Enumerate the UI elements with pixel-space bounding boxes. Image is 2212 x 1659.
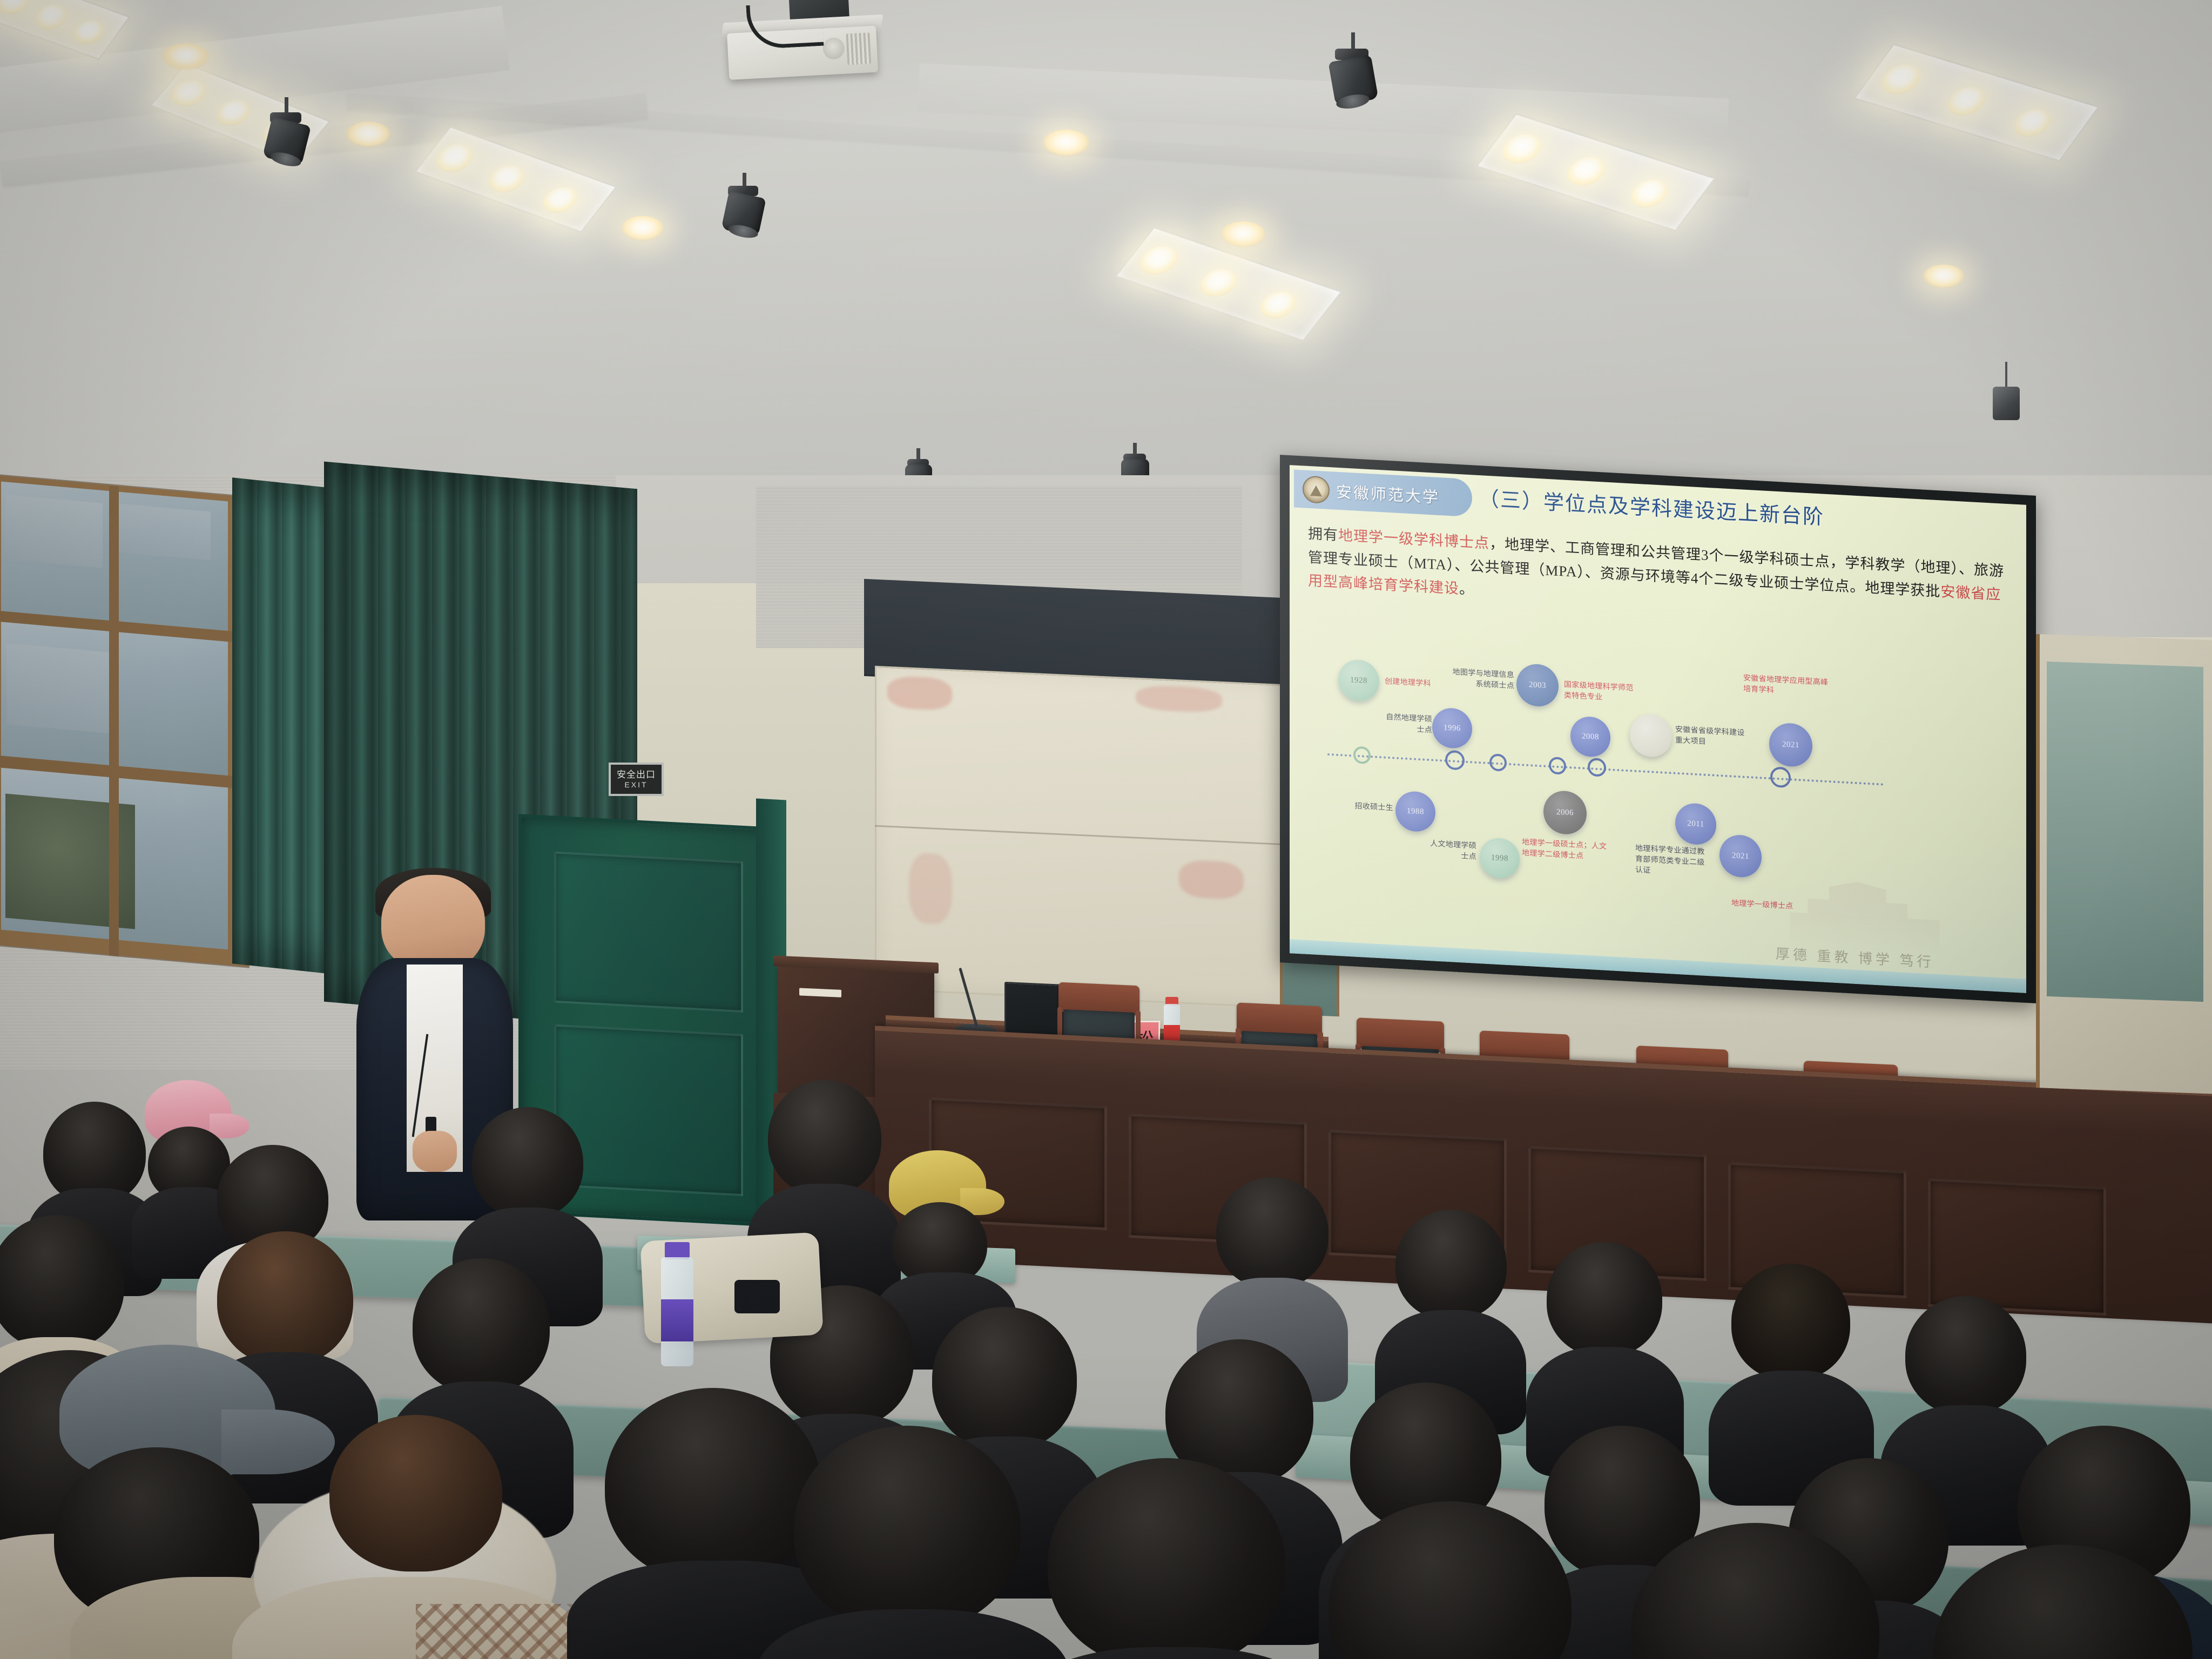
slide-logo-band: 安徽师范大学 <box>1294 469 1472 517</box>
exit-sign-cn: 安全出口 <box>617 770 656 779</box>
university-name: 安徽师范大学 <box>1336 480 1440 508</box>
downlight-3 <box>621 216 664 241</box>
stage-spotlight-1 <box>254 97 319 167</box>
projector-vent <box>846 32 871 65</box>
timeline-year-2003: 2003 <box>1529 680 1546 691</box>
timeline-node-above-5: 2021 <box>1769 722 1812 767</box>
audience-person-front-3 <box>232 1415 567 1659</box>
ceiling-projector <box>721 0 899 107</box>
audience-head <box>1933 1545 2193 1659</box>
audience-person-front-5 <box>772 1426 1042 1659</box>
timeline-label-above-4: 安徽省省级学科建设重大项目 <box>1675 725 1745 750</box>
timeline-ring-3 <box>1489 753 1507 772</box>
downlight-1 <box>162 43 210 70</box>
audience-person-front-8 <box>1609 1523 1912 1659</box>
downlight-4 <box>1042 130 1090 157</box>
timeline-ring-5 <box>1588 758 1606 777</box>
stage-spotlight-2 <box>713 173 775 241</box>
audience-head <box>1731 1264 1850 1380</box>
presenter-head <box>381 875 484 972</box>
slide-body-seg-0: 拥有 <box>1308 525 1338 543</box>
timeline-label-below-4: 地理学一级博士点 <box>1731 898 1807 913</box>
slide-body-seg-4: 。 <box>1459 581 1474 598</box>
timeline-label-above-5: 安徽省地理学应用型高峰培育学科 <box>1743 673 1835 700</box>
audience-person-front-6 <box>1026 1458 1307 1659</box>
timeline-label-above-3: 国家级地理科学师范类特色专业 <box>1564 680 1634 705</box>
timeline-node-above-2: 2003 <box>1516 663 1559 707</box>
timeline-year-2011: 2011 <box>1687 819 1704 829</box>
downlight-6 <box>1923 265 1965 288</box>
university-logo-icon <box>1303 475 1330 504</box>
timeline-ring-6 <box>1770 766 1791 788</box>
timeline-ring-1 <box>1353 746 1371 764</box>
stage-panel-6 <box>1928 1178 2106 1316</box>
timeline-node-below-3: 2011 <box>1675 802 1716 846</box>
audience-person-front-9 <box>1912 1545 2212 1659</box>
timeline-year-2021-b: 2021 <box>1732 851 1749 861</box>
timeline-label-below-3: 地理科学专业通过教育部师范类专业二级认证 <box>1635 844 1707 880</box>
timeline-node-below-2: 2006 <box>1543 790 1587 835</box>
downlight-2 <box>346 122 391 147</box>
ceiling-pendant-right <box>1987 362 2025 432</box>
audience-body <box>756 1609 1069 1659</box>
timeline-label-below-0: 招收硕士生 <box>1341 800 1393 814</box>
timeline-node-below-0: 1988 <box>1395 791 1435 833</box>
audience-head <box>0 1215 124 1350</box>
audience-head <box>472 1107 583 1218</box>
audience-head <box>768 1080 881 1196</box>
timeline-label-below-2: 地理学一级硕士点；人文地理学二级博士点 <box>1522 837 1608 863</box>
audience-body <box>1010 1647 1334 1659</box>
lecture-hall-photo: 安全出口 EXIT 安徽师范大学 （三）学位点及学科建设迈上新台阶 拥有地理学一 <box>0 0 2212 1659</box>
audience-head <box>329 1415 502 1572</box>
presenter-hands <box>413 1131 456 1172</box>
audience-head <box>1048 1458 1285 1659</box>
timeline-year-1928: 1928 <box>1350 676 1367 686</box>
timeline-label-above-2: 地图学与地理信息系统硕士点 <box>1446 667 1514 692</box>
timeline-node-above-3: 2008 <box>1570 716 1610 758</box>
exit-sign: 安全出口 EXIT <box>609 763 664 796</box>
timeline-year-1998: 1998 <box>1491 853 1508 864</box>
presentation-slide: 安徽师范大学 （三）学位点及学科建设迈上新台阶 拥有地理学一级学科博士点，地理学… <box>1290 465 2026 993</box>
timeline-year-2008: 2008 <box>1582 732 1599 742</box>
audience-head <box>1328 1501 1572 1659</box>
bottle-label <box>661 1299 693 1341</box>
timeline-year-1996: 1996 <box>1444 723 1461 733</box>
stage-spotlight-3 <box>1318 32 1388 108</box>
exit-sign-en: EXIT <box>624 781 648 788</box>
audience-head <box>794 1426 1021 1631</box>
timeline-label-below-1: 人文地理学硕士点 <box>1424 838 1476 862</box>
timeline-node-above-4 <box>1630 713 1672 758</box>
audience-head <box>413 1258 550 1394</box>
downlight-5 <box>1220 221 1266 247</box>
projection-screen: 安徽师范大学 （三）学位点及学科建设迈上新台阶 拥有地理学一级学科博士点，地理学… <box>1280 455 2036 1003</box>
lectern-paper <box>799 988 841 997</box>
slide-body-seg-1: 地理学一级学科博士点 <box>1338 527 1489 551</box>
audience-head <box>1216 1177 1328 1289</box>
timeline-ring-2 <box>1445 750 1465 771</box>
audience-person-front-7 <box>1307 1501 1599 1659</box>
timeline-year-2021-a: 2021 <box>1782 740 1799 750</box>
backpack-logo-icon <box>734 1280 780 1313</box>
timeline-node-below-1: 1998 <box>1480 837 1520 879</box>
timeline-node-above-1: 1996 <box>1432 707 1472 749</box>
timeline-label-above-1: 自然地理学硕士点 <box>1382 712 1432 736</box>
audience-head <box>1395 1210 1507 1320</box>
whiteboard <box>875 666 1285 1009</box>
timeline-node-above-0: 1928 <box>1338 659 1379 702</box>
timeline-node-below-4: 2021 <box>1719 834 1762 878</box>
audience-person-back-10 <box>1717 1264 1863 1485</box>
right-wall-glass <box>2047 662 2203 1002</box>
door-panel-upper <box>554 852 743 1013</box>
timeline-label-above-0: 创建地理学科 <box>1385 677 1455 691</box>
timeline-ring-4 <box>1549 757 1566 775</box>
audience-head <box>1905 1296 2026 1415</box>
water-bottle-audience <box>658 1242 697 1366</box>
timeline-year-1988: 1988 <box>1407 806 1424 817</box>
audience-head <box>1547 1242 1662 1357</box>
timeline-year-2006: 2006 <box>1556 807 1574 818</box>
audience-head <box>1631 1523 1879 1659</box>
